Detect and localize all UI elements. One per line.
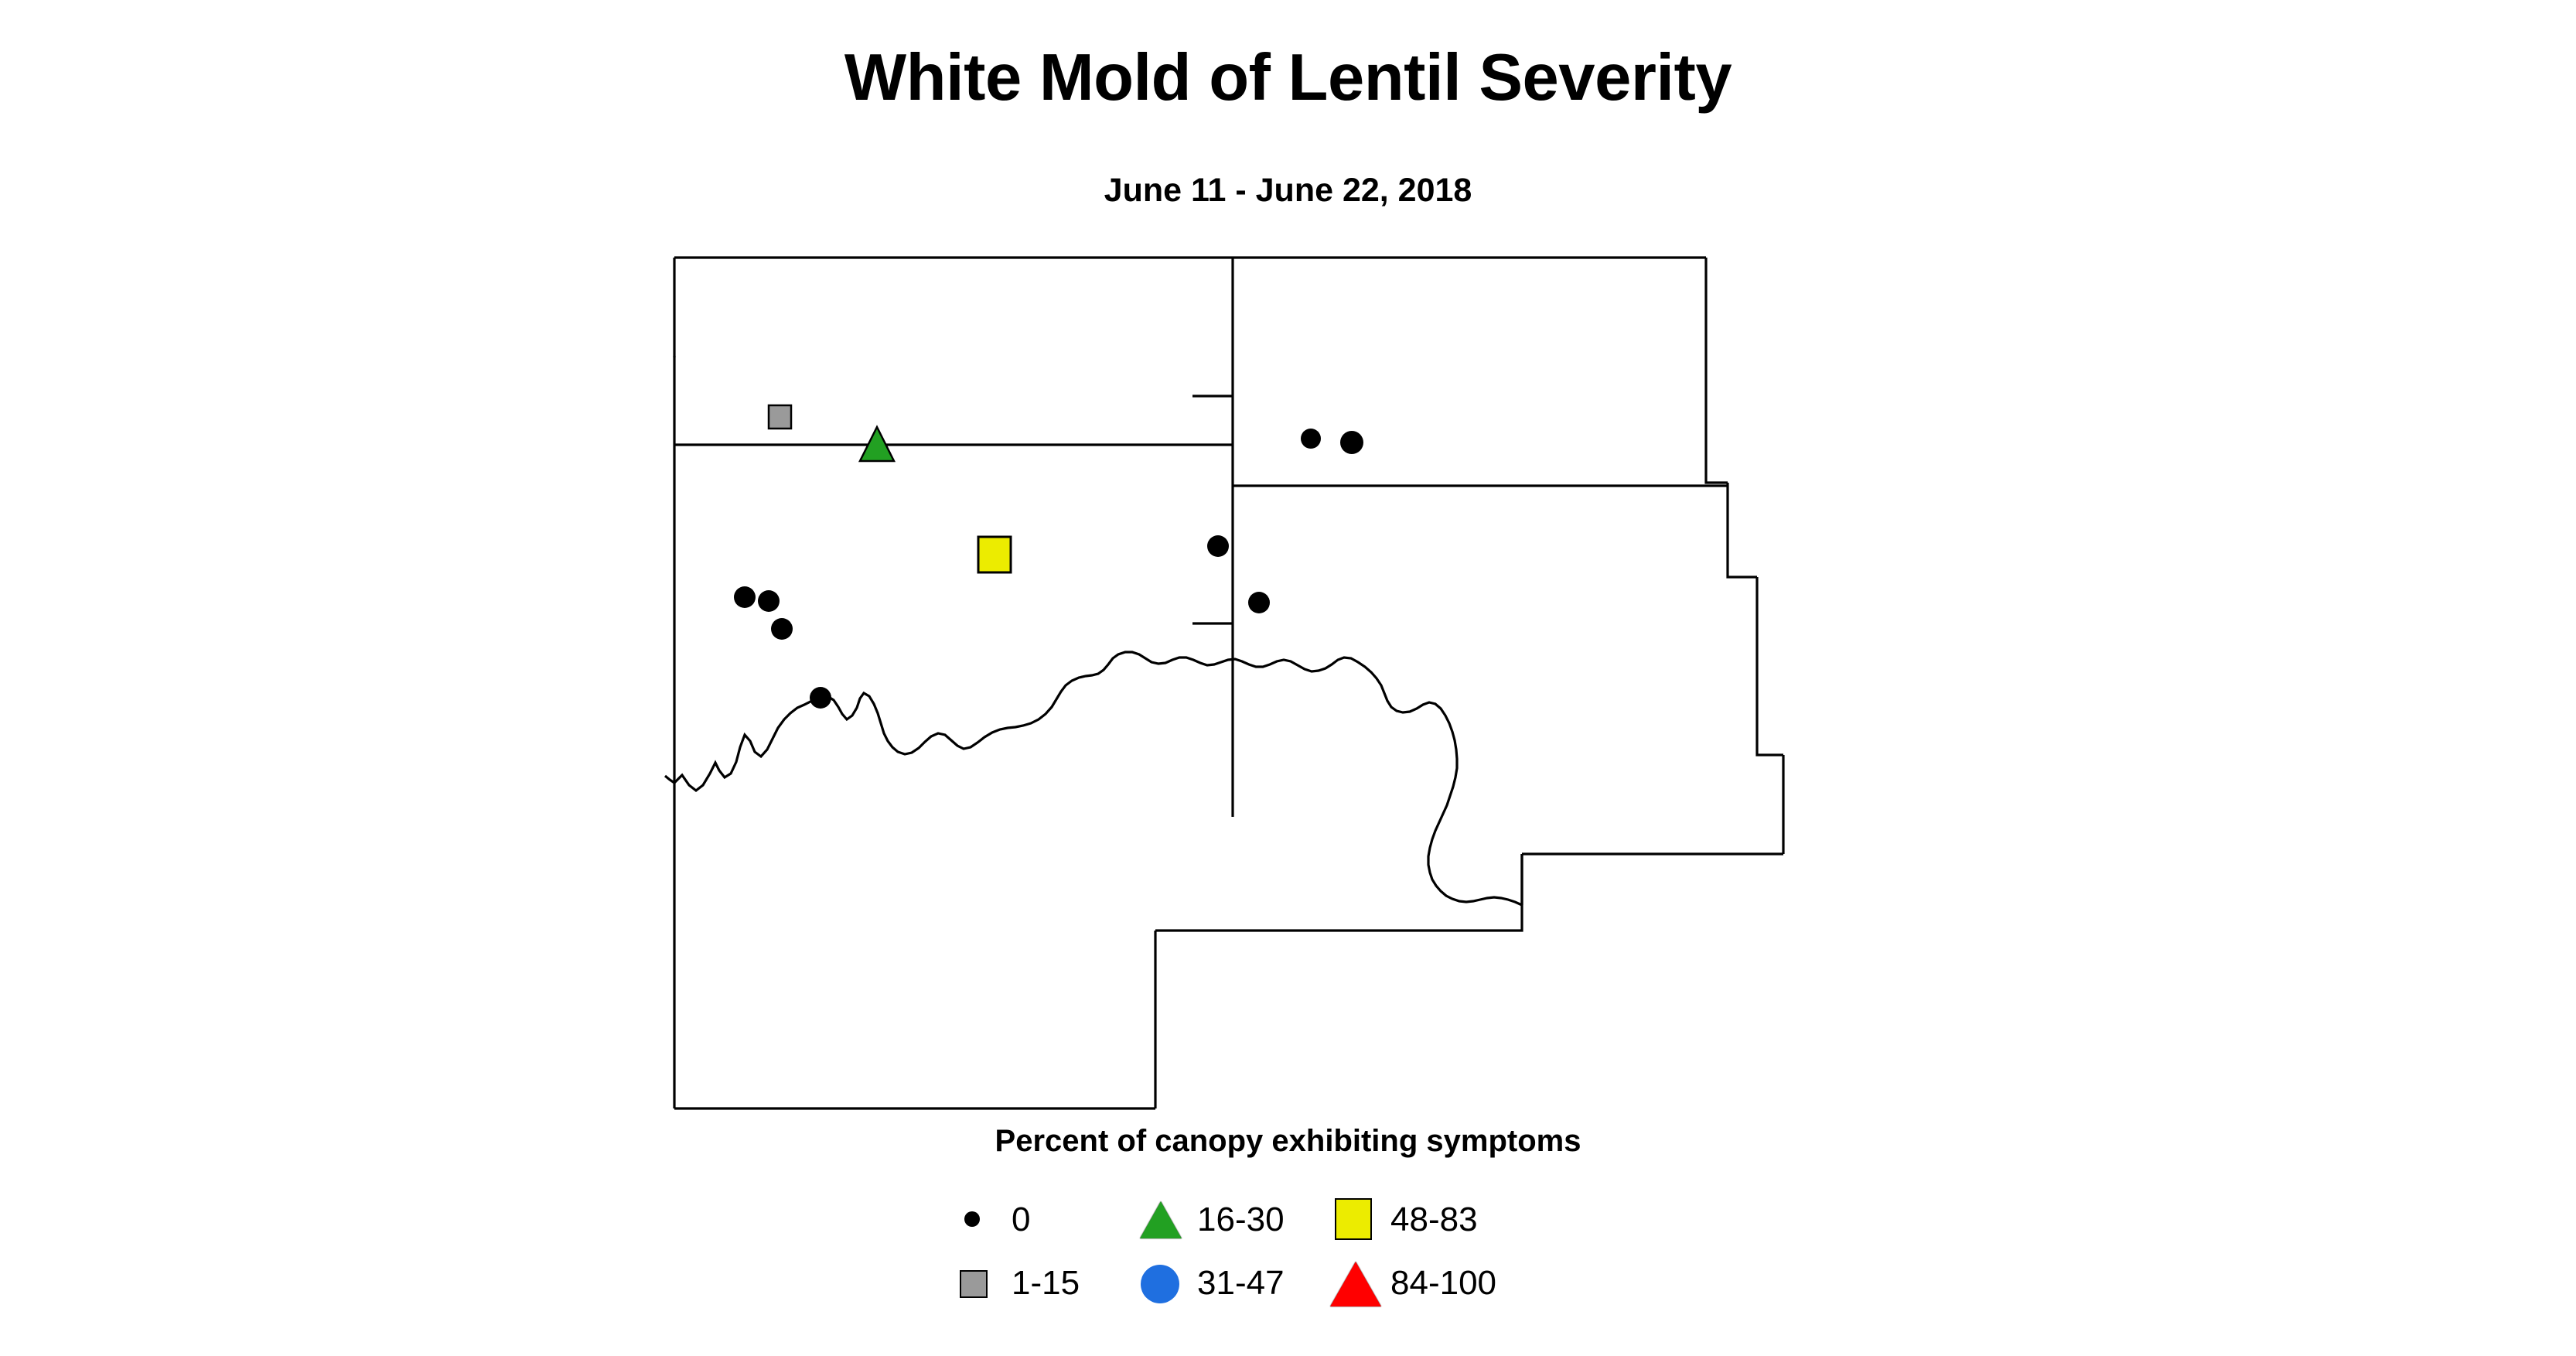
yellow-square-icon [1330, 1195, 1378, 1243]
data-point-yellow-square [978, 537, 1011, 572]
legend-label: 0 [1012, 1198, 1030, 1242]
blue-circle-icon [1137, 1259, 1185, 1306]
data-point-dot [1340, 431, 1363, 454]
figure-root: White Mold of Lentil Severity June 11 - … [0, 0, 2576, 1356]
data-points [734, 405, 1363, 709]
data-point-dot [1248, 592, 1270, 613]
river-west-tail [665, 776, 674, 783]
county-boundaries [665, 258, 1783, 1108]
boundary-lower-right-riser [1394, 854, 1522, 931]
data-point-dot [758, 590, 780, 612]
gray-square-icon [951, 1259, 999, 1306]
legend-label: 31-47 [1197, 1262, 1285, 1305]
data-point-dot [810, 687, 831, 709]
data-point-dot [1301, 429, 1321, 449]
green-triangle-icon [1137, 1195, 1185, 1243]
legend: 0 16-30 48-83 1-15 31-47 84-100 [951, 1195, 1647, 1319]
legend-label: 1-15 [1012, 1262, 1080, 1305]
legend-row: 0 16-30 48-83 [951, 1195, 1647, 1249]
data-point-dot [771, 618, 793, 640]
legend-title: Percent of canopy exhibiting symptoms [0, 1125, 2576, 1156]
boundary-right-step-c [1706, 258, 1728, 483]
boundary-right-step-b [1728, 483, 1757, 577]
data-point-gray-square [769, 405, 791, 429]
data-point-dot [734, 586, 756, 608]
legend-row: 1-15 31-47 84-100 [951, 1259, 1647, 1313]
black-dot-icon [951, 1195, 999, 1243]
legend-label: 48-83 [1390, 1198, 1478, 1242]
boundary-right-step-a [1757, 577, 1783, 755]
legend-label: 84-100 [1390, 1262, 1496, 1305]
legend-label: 16-30 [1197, 1198, 1285, 1242]
data-point-dot [1207, 535, 1229, 557]
red-triangle-icon [1330, 1259, 1378, 1306]
river-boundary [674, 652, 1522, 905]
